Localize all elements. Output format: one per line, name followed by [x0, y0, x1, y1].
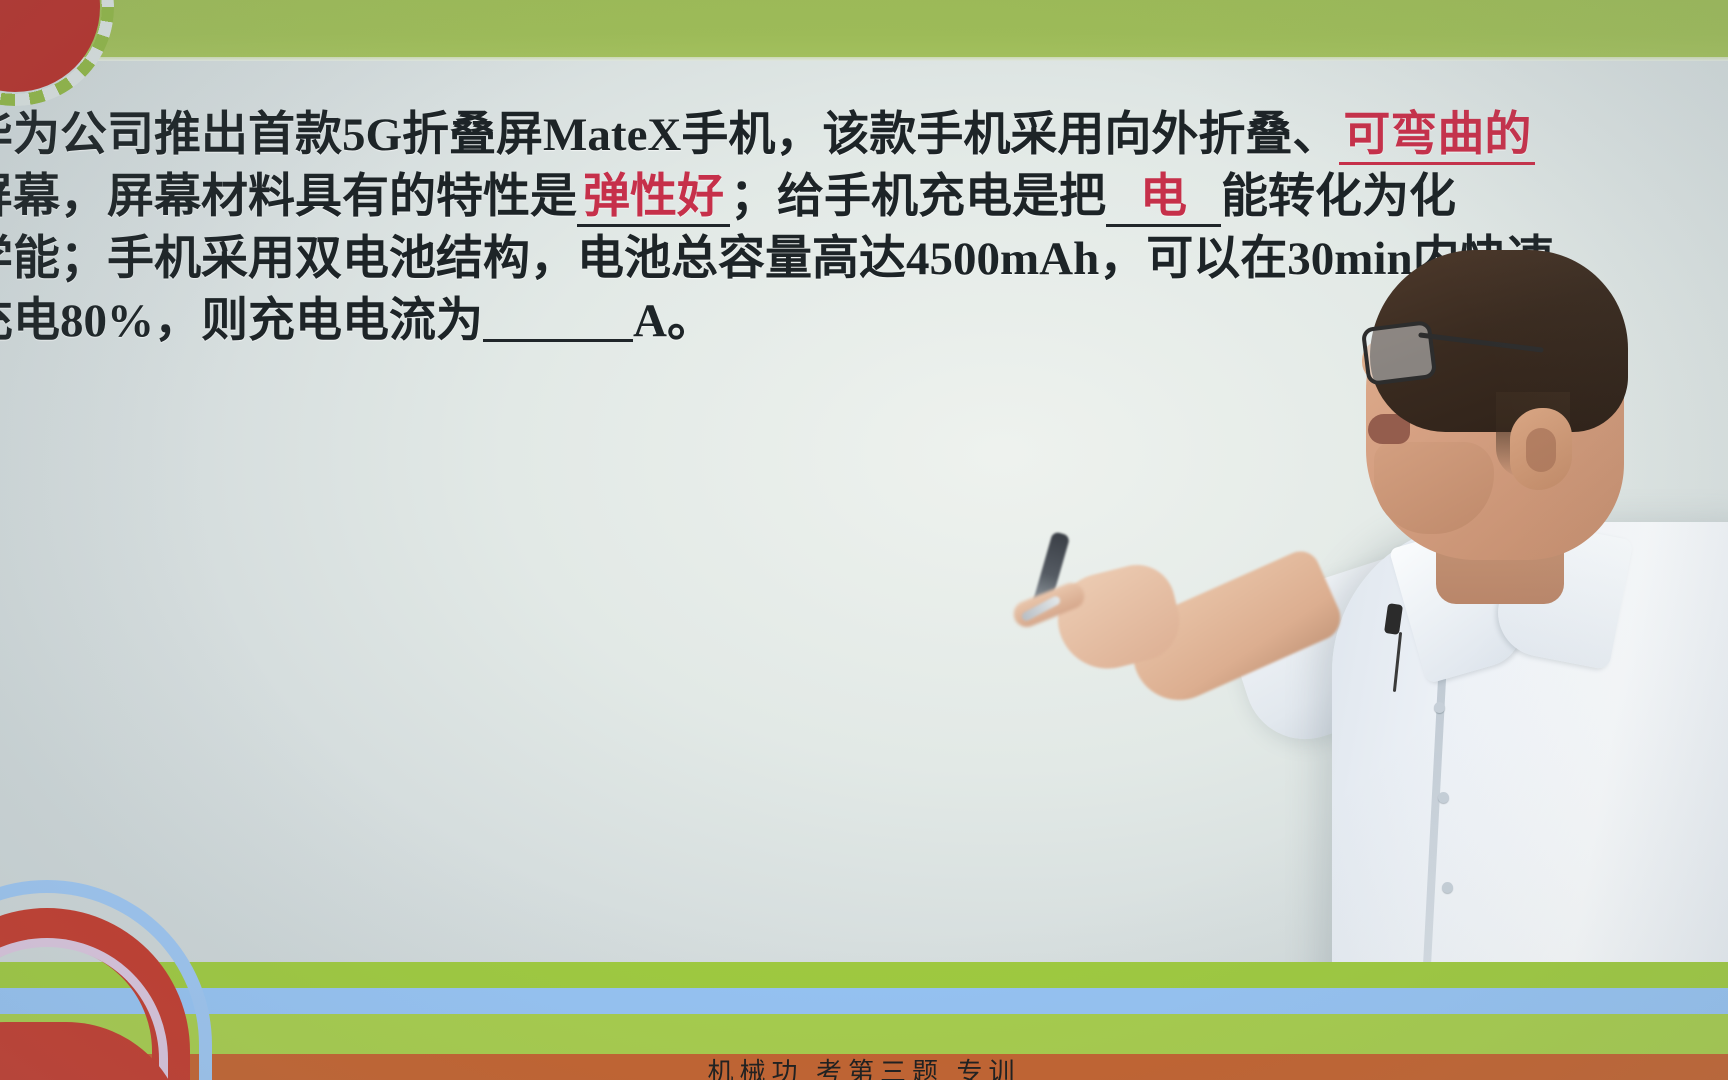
answer-blank-current [483, 295, 633, 342]
bottom-left-ornament [0, 820, 312, 1080]
answer-elasticity: 弹性好 [577, 172, 730, 227]
presenter-ear-inner [1526, 428, 1556, 472]
problem-line1-part1: 华为公司推出首款5G折叠屏MateX手机，该款手机采用向外折叠、 [0, 109, 1339, 161]
shirt-button [1434, 702, 1445, 713]
presenter [1258, 232, 1728, 1080]
video-frame: 华为公司推出首款5G折叠屏MateX手机，该款手机采用向外折叠、可弯曲的 屏幕，… [0, 0, 1728, 1080]
slide-top-band [0, 0, 1728, 57]
answer-flexible: 可弯曲的 [1339, 110, 1535, 165]
problem-line4-part2: A。 [633, 295, 714, 347]
answer-energy: 电 [1106, 172, 1221, 227]
problem-line-2: 屏幕，屏幕材料具有的特性是弹性好；给手机充电是把电能转化为化 [0, 166, 1728, 228]
shirt-button [1442, 882, 1453, 893]
problem-line2-part3: 能转化为化 [1221, 171, 1456, 223]
problem-line4-part1: 充电80%，则充电电流为 [0, 295, 483, 347]
red-circle-icon [0, 0, 100, 92]
problem-line2-part1: 屏幕，屏幕材料具有的特性是 [0, 171, 577, 223]
shirt-button [1438, 792, 1449, 803]
bottom-caption: 机械功 考第三题 专训 [0, 1057, 1728, 1080]
problem-line2-part2: ；给手机充电是把 [730, 171, 1106, 223]
slide-top-band-edge [0, 57, 1728, 61]
problem-line-1: 华为公司推出首款5G折叠屏MateX手机，该款手机采用向外折叠、可弯曲的 [0, 104, 1728, 166]
glasses-icon [1361, 320, 1438, 386]
